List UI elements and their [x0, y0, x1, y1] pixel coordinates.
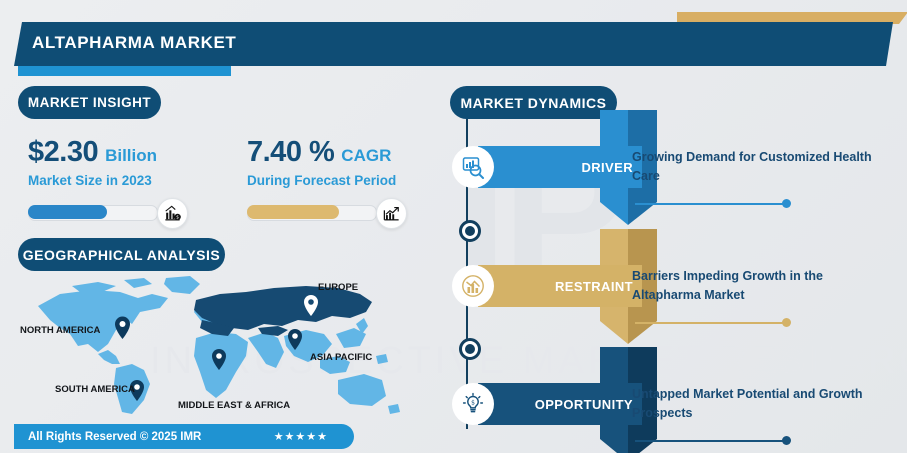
- dynamics-end-dot: [782, 436, 791, 445]
- page-title: ALTAPHARMA MARKET: [32, 33, 236, 53]
- map-highlight-region: [194, 286, 372, 336]
- rating-stars: ★★★★★: [274, 430, 328, 443]
- dynamics-label: RESTRAINT: [555, 265, 633, 307]
- progress-fill: [247, 205, 339, 219]
- world-map-svg: [20, 272, 420, 420]
- dynamics-band: RESTRAINT: [478, 265, 642, 307]
- bar-chart-dollar-icon: $: [157, 198, 188, 229]
- metric-caption: Market Size in 2023: [28, 173, 188, 188]
- dynamics-rule: [635, 440, 787, 442]
- svg-text:$: $: [176, 215, 179, 221]
- map-label-south-america: SOUTH AMERICA: [55, 384, 135, 395]
- dynamics-description: Growing Demand for Customized Health Car…: [632, 148, 882, 187]
- header-bar: ALTAPHARMA MARKET: [14, 22, 893, 66]
- metric-value: 7.40 %: [247, 136, 334, 169]
- dynamics-rule: [635, 322, 787, 324]
- growth-chart-icon: [376, 198, 407, 229]
- metric-unit: Billion: [105, 146, 157, 166]
- svg-text:$: $: [471, 399, 475, 406]
- dynamics-description: Barriers Impeding Growth in the Altaphar…: [632, 267, 882, 306]
- declining-bar-chart-icon: [452, 265, 494, 307]
- dynamics-rule: [635, 203, 787, 205]
- map-label-asia-pacific: ASIA PACIFIC: [310, 352, 372, 363]
- progress-fill: [28, 205, 107, 219]
- copyright-text: All Rights Reserved © 2025 IMR: [28, 431, 201, 443]
- dynamics-band: DRIVER: [478, 146, 642, 188]
- dynamics-description: Untapped Market Potential and Growth Pro…: [632, 385, 882, 424]
- metric-card: 7.40 % CAGR During Forecast Period: [247, 136, 407, 223]
- metric-progress: [247, 201, 407, 223]
- chart-magnifier-icon: [452, 146, 494, 188]
- market-insight-chip: MARKET INSIGHT: [18, 86, 161, 119]
- metric-card: $2.30 Billion Market Size in 2023 $: [28, 136, 188, 223]
- dynamics-label: DRIVER: [581, 146, 633, 188]
- map-label-europe: EUROPE: [318, 282, 358, 293]
- lightbulb-idea-icon: $: [452, 383, 494, 425]
- footer-bar: All Rights Reserved © 2025 IMR ★★★★★: [14, 424, 354, 449]
- timeline-node: [459, 338, 481, 360]
- header-underline: [18, 66, 231, 76]
- dynamics-end-dot: [782, 318, 791, 327]
- dynamics-band: OPPORTUNITY: [478, 383, 642, 425]
- map-label-middle-east-africa: MIDDLE EAST & AFRICA: [178, 400, 290, 411]
- metric-unit: CAGR: [341, 146, 391, 166]
- world-map: NORTH AMERICA SOUTH AMERICA MIDDLE EAST …: [20, 272, 420, 420]
- market-dynamics-chip: MARKET DYNAMICS: [450, 86, 617, 119]
- metric-value: $2.30: [28, 136, 98, 169]
- infographic-canvas: IP INTROSPECTIVE MARKET RESEARCH ALTAPHA…: [0, 0, 907, 453]
- dynamics-label: OPPORTUNITY: [535, 383, 633, 425]
- map-label-north-america: NORTH AMERICA: [20, 325, 100, 336]
- timeline-node: [459, 220, 481, 242]
- metric-caption: During Forecast Period: [247, 173, 407, 188]
- geographical-analysis-chip: GEOGRAPHICAL ANALYSIS: [18, 238, 225, 271]
- metric-progress: $: [28, 201, 188, 223]
- dynamics-end-dot: [782, 199, 791, 208]
